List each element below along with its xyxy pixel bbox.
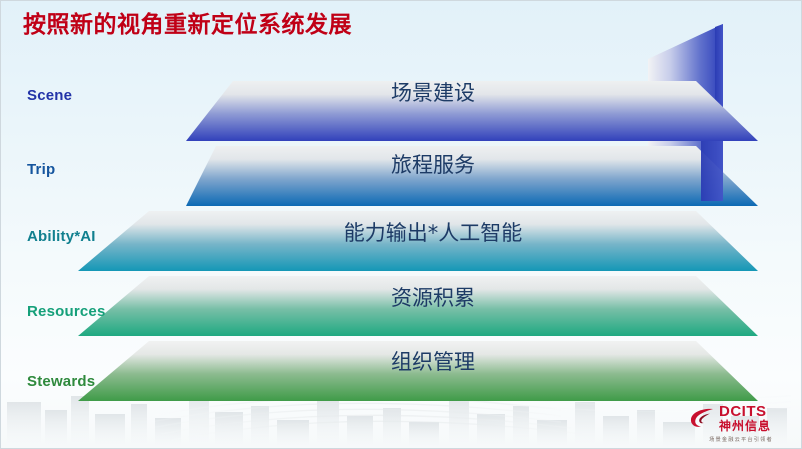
row-label-resources-text: Resources (27, 303, 106, 320)
layer-caption-trip: 旅程服务 (333, 149, 533, 179)
row-label-trip: Trip (27, 161, 55, 178)
dcits-logo: DCITS 神州信息 场景金融云平台引领者 (689, 404, 793, 444)
row-label-stewards: Stewards (27, 373, 95, 390)
logo-text-column: DCITS 神州信息 (719, 404, 771, 432)
blue-wall-front-edge (701, 141, 723, 201)
row-label-scene-text: Scene (27, 87, 72, 104)
row-label-ability-ai-text: Ability*AI (27, 228, 96, 245)
layer-caption-resources: 资源积累 (333, 282, 533, 312)
row-label-resources: Resources (27, 303, 106, 320)
row-label-ability-ai: Ability*AI (27, 228, 96, 245)
slide-canvas: 按照新的视角重新定位系统发展 (0, 0, 802, 449)
logo-tagline: 场景金融云平台引领者 (692, 435, 791, 443)
logo-main-row: DCITS 神州信息 (689, 404, 793, 432)
dcits-swoosh-icon (689, 407, 715, 429)
layer-caption-scene: 场景建设 (333, 77, 533, 107)
logo-brand-cn: 神州信息 (719, 420, 771, 432)
layer-caption-stewards: 组织管理 (333, 346, 533, 376)
layer-caption-ability-ai: 能力输出*人工智能 (297, 217, 569, 247)
row-label-trip-text: Trip (27, 161, 55, 178)
logo-brand-en: DCITS (719, 404, 771, 419)
row-label-scene: Scene (27, 87, 72, 104)
row-label-stewards-text: Stewards (27, 373, 95, 390)
